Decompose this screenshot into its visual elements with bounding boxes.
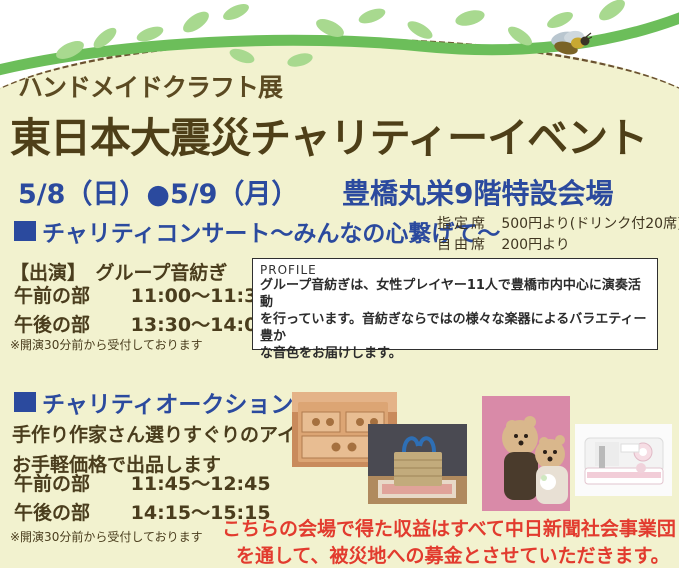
blue-square-marker-icon <box>14 392 36 412</box>
price-row: 指定席 500円より(ドリンク付20席) <box>437 214 679 235</box>
profile-line-1: グループ音紡ぎは、女性プレイヤー11人で豊橋市内中心に演奏活動 <box>260 277 650 311</box>
teddy-bear-pair-photo <box>482 396 570 511</box>
bee-icon <box>548 30 592 60</box>
price-row: 自由席 200円より <box>437 235 679 256</box>
profile-box: PROFILE グループ音紡ぎは、女性プレイヤー11人で豊橋市内中心に演奏活動 … <box>252 258 658 350</box>
flyer-poster: ハンドメイドクラフト展 東日本大震災チャリティーイベント 5/8（日）●5/9（… <box>0 0 679 568</box>
cast-line: 【出演】 グループ音紡ぎ <box>10 258 227 285</box>
woven-basket-bag-photo <box>368 424 467 504</box>
price-value: 500円より(ドリンク付20席) <box>501 216 679 232</box>
profile-title: PROFILE <box>260 263 650 277</box>
auction-heading-label: チャリティオークション <box>42 385 293 419</box>
time-value: 13:30〜14:00 <box>131 314 271 336</box>
ticket-price-list: 指定席 500円より(ドリンク付20席) 自由席 200円より <box>437 214 679 256</box>
event-dates: 5/8（日）●5/9（月） <box>18 172 298 211</box>
blue-square-marker-icon <box>14 221 36 241</box>
time-label: 午前の部 <box>14 470 124 499</box>
time-value: 11:45〜12:45 <box>131 473 271 495</box>
section-heading-concert: チャリティコンサート〜みんなの心繋げて〜 <box>14 214 500 248</box>
price-value: 200円より <box>501 237 569 253</box>
concert-heading-label: チャリティコンサート〜みんなの心繋げて〜 <box>42 214 500 248</box>
profile-line-2: を行っています。音紡ぎならではの様々な楽器によるバラエティー豊か <box>260 311 650 345</box>
donation-statement: こちらの会場で得た収益はすべて中日新聞社会事業団 を通して、被災地への募金とさせ… <box>222 516 676 568</box>
donation-line-2: を通して、被災地への募金とさせていただきます。 <box>236 543 676 568</box>
concert-reception-note: ※開演30分前から受付しております <box>10 336 203 353</box>
concert-times: 午前の部 11:00〜11:30 午後の部 13:30〜14:00 <box>14 282 271 340</box>
venue-name: 豊橋丸栄9階特設会場 <box>342 172 613 212</box>
price-label: 自由席 <box>437 237 488 253</box>
time-label: 午後の部 <box>14 499 124 528</box>
profile-line-3: な音色をお届けします。 <box>260 345 650 362</box>
main-title: 東日本大震災チャリティーイベント <box>10 104 647 164</box>
section-heading-auction: チャリティオークション <box>14 385 293 419</box>
time-row: 午前の部 11:45〜12:45 <box>14 470 271 499</box>
time-value: 11:00〜11:30 <box>131 285 271 307</box>
donation-line-1: こちらの会場で得た収益はすべて中日新聞社会事業団 <box>222 518 676 540</box>
auction-reception-note: ※開演30分前から受付しております <box>10 528 203 545</box>
sewing-machine-photo <box>575 424 672 496</box>
price-label: 指定席 <box>437 216 488 232</box>
sub-title: ハンドメイドクラフト展 <box>18 68 282 104</box>
time-label: 午前の部 <box>14 282 124 311</box>
time-row: 午前の部 11:00〜11:30 <box>14 282 271 311</box>
